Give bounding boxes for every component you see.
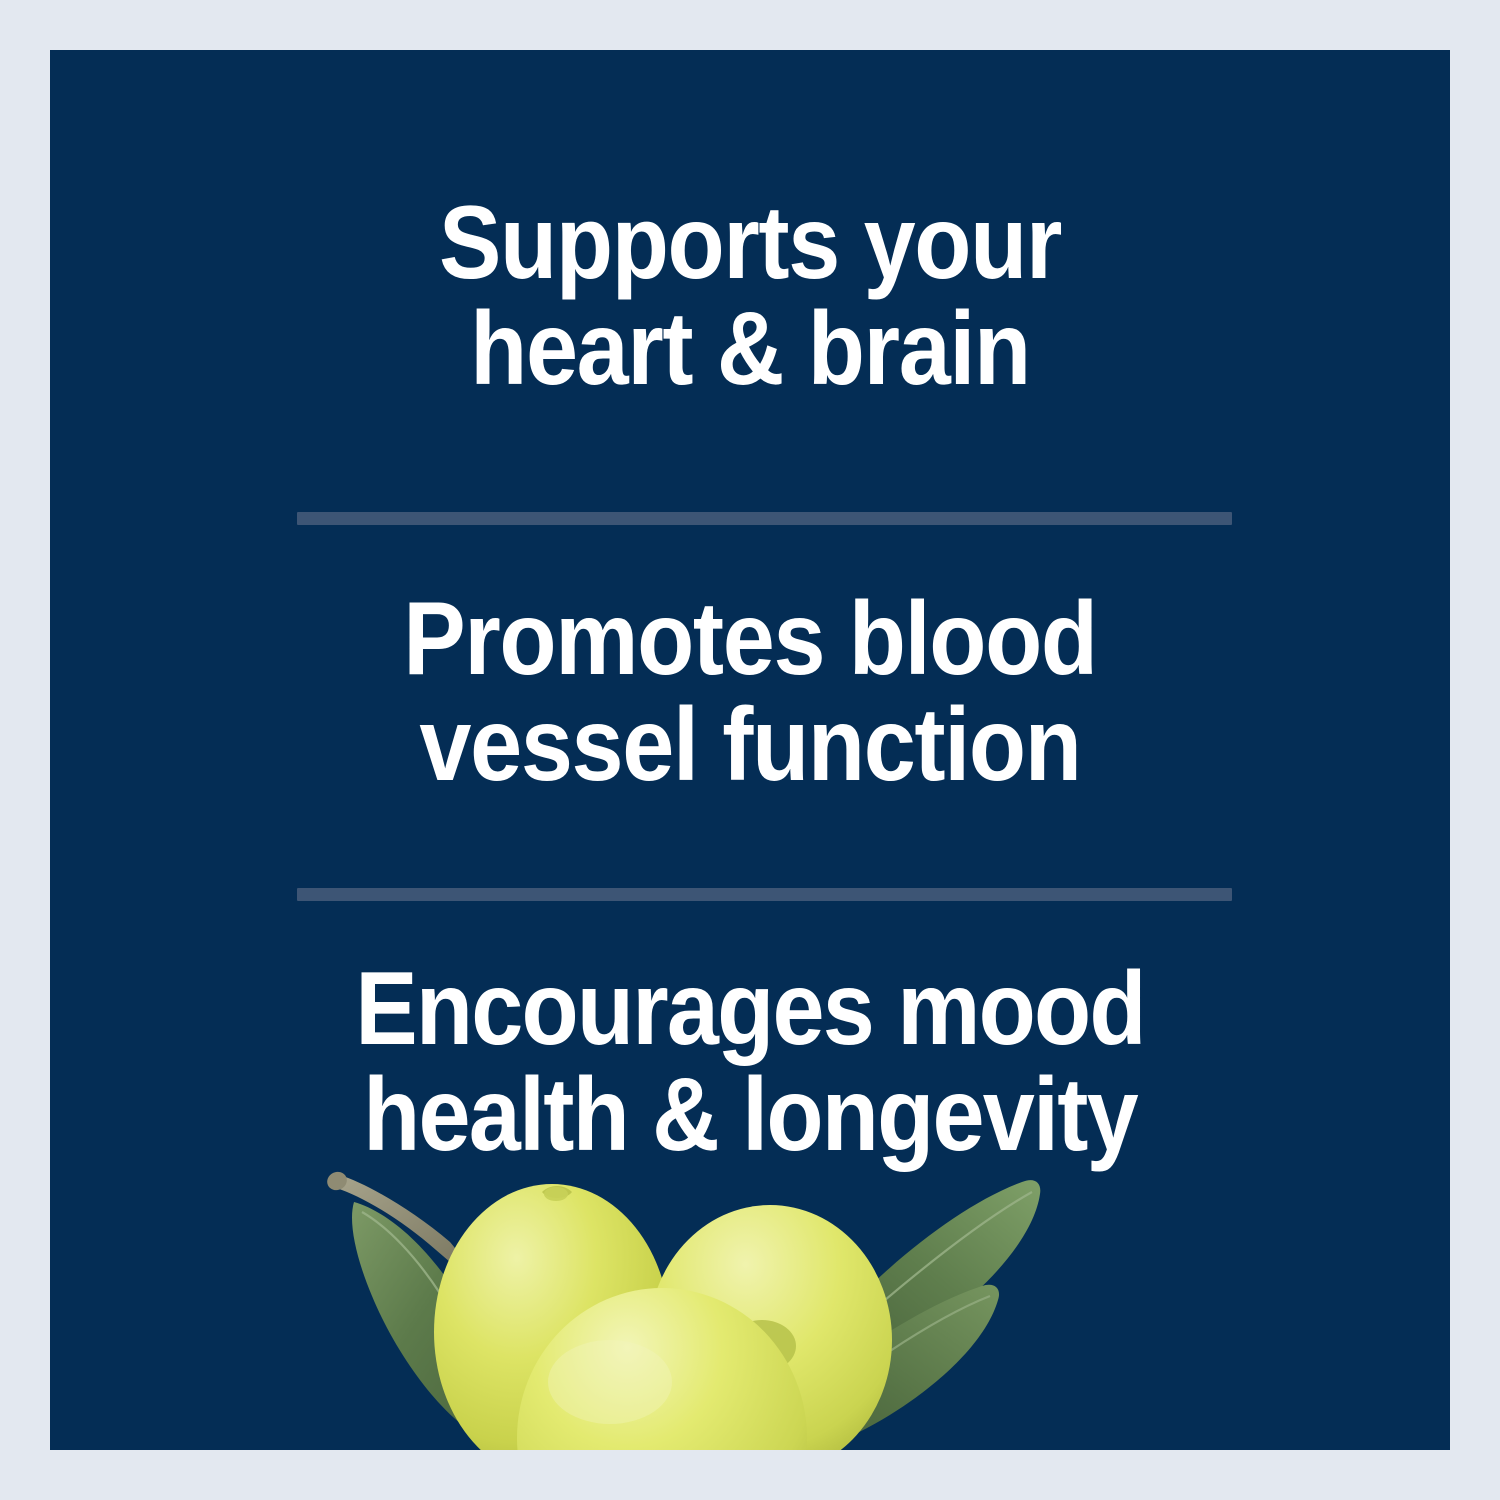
benefit-heart-brain: Supports your heart & brain bbox=[120, 190, 1380, 402]
olives-image bbox=[310, 1150, 1110, 1450]
divider-1 bbox=[297, 512, 1232, 525]
benefit-heart-brain-line2: heart & brain bbox=[120, 296, 1380, 402]
benefit-blood-vessel-line1: Promotes blood bbox=[120, 586, 1380, 692]
benefit-mood-longevity: Encourages mood health & longevity bbox=[120, 956, 1380, 1168]
benefit-blood-vessel-line2: vessel function bbox=[120, 692, 1380, 798]
product-benefits-graphic: Supports your heart & brain Promotes blo… bbox=[0, 0, 1500, 1500]
benefit-blood-vessel: Promotes blood vessel function bbox=[120, 586, 1380, 798]
divider-2 bbox=[297, 888, 1232, 901]
benefit-mood-longevity-line1: Encourages mood bbox=[120, 956, 1380, 1062]
benefit-heart-brain-line1: Supports your bbox=[120, 190, 1380, 296]
olives-illustration bbox=[310, 1150, 1110, 1450]
